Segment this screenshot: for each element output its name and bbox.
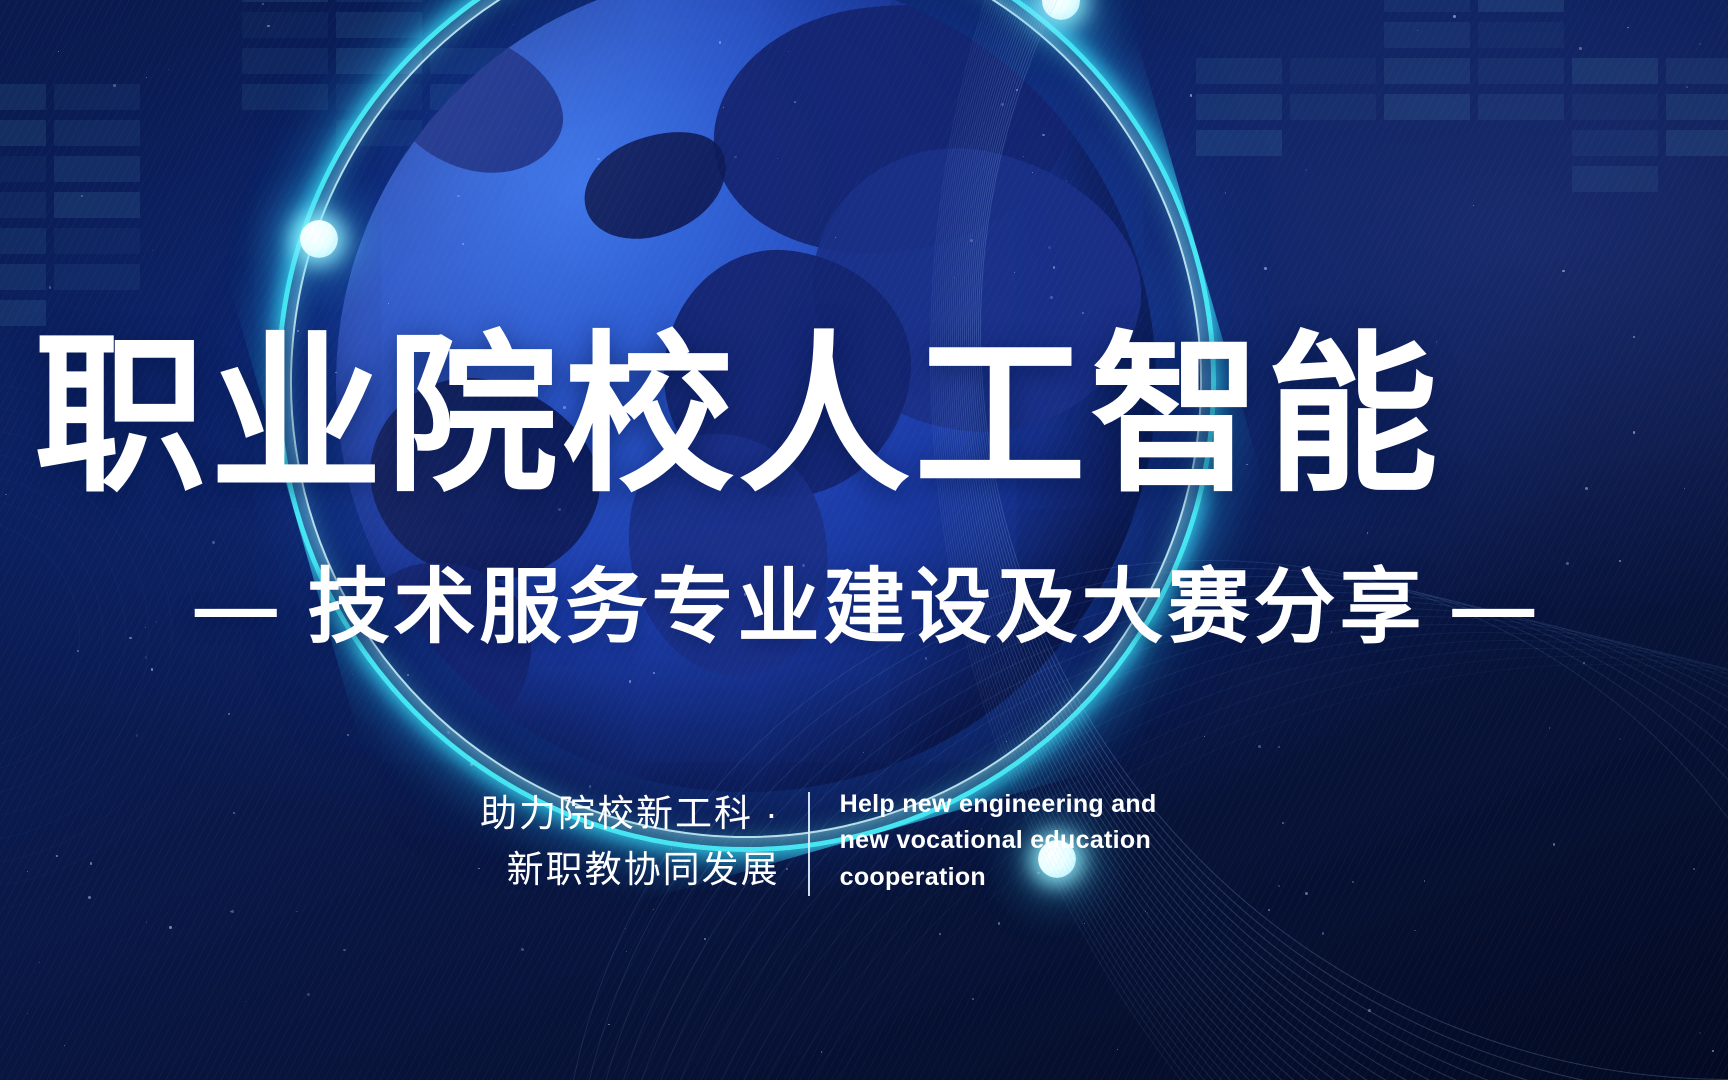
star-dot [1583, 662, 1585, 664]
star-dot [1268, 909, 1270, 911]
star-dot [212, 541, 215, 544]
star-dot [1305, 892, 1308, 895]
data-block [1478, 94, 1564, 120]
data-block [54, 264, 140, 290]
star-dot [626, 951, 627, 952]
poster-canvas: 职业院校人工智能 — 技术服务专业建设及大赛分享 — 助力院校新工科 · 新职教… [0, 0, 1728, 1080]
star-dot [1352, 881, 1354, 883]
star-dot [1117, 1049, 1118, 1050]
star-dot [56, 855, 58, 857]
star-dot [1282, 822, 1284, 824]
star-dot [1712, 1050, 1714, 1052]
star-dot [1553, 843, 1555, 845]
data-block [1478, 22, 1564, 48]
star-dot [1453, 15, 1456, 18]
star-dot [1414, 930, 1415, 931]
star-dot [1619, 560, 1621, 562]
star-dot [1305, 169, 1307, 171]
star-dot [168, 69, 169, 70]
star-dot [653, 909, 654, 910]
star-dot [1258, 745, 1261, 748]
data-block [1666, 94, 1728, 120]
tagline-chinese-line-2: 新职教协同发展 [480, 842, 780, 898]
data-block [1384, 22, 1470, 48]
star-dot [152, 250, 153, 251]
data-block [1384, 58, 1470, 84]
tagline-chinese-line-1: 助力院校新工科 · [480, 786, 780, 842]
star-dot [625, 928, 626, 929]
star-dot [1264, 267, 1267, 270]
data-block [1478, 0, 1564, 12]
tagline-chinese: 助力院校新工科 · 新职教协同发展 [480, 786, 808, 898]
star-dot [972, 998, 974, 1000]
data-block [1290, 58, 1376, 84]
data-block [1666, 130, 1728, 156]
data-block [1666, 58, 1728, 84]
data-block [1572, 58, 1658, 84]
star-dot [88, 896, 91, 899]
orbit-node-left [300, 220, 338, 258]
data-block [54, 120, 140, 146]
star-dot [1424, 880, 1425, 881]
star-dot [230, 911, 231, 912]
star-dot [27, 1013, 28, 1014]
orbit-node-top-right [1042, 0, 1080, 20]
star-dot [1627, 27, 1628, 28]
star-dot [1562, 270, 1564, 272]
star-dot [169, 926, 172, 929]
star-dot [1368, 1009, 1371, 1012]
data-block [1478, 58, 1564, 84]
star-dot [608, 1024, 609, 1025]
star-dot [49, 286, 52, 289]
data-block [1572, 130, 1658, 156]
star-dot [90, 862, 93, 865]
data-block [54, 192, 140, 218]
star-dot [296, 911, 297, 912]
star-dot [27, 871, 28, 872]
data-block [54, 228, 140, 254]
data-block [0, 84, 46, 110]
star-dot [1693, 868, 1695, 870]
star-dot [343, 949, 345, 951]
star-dot [1699, 43, 1701, 45]
star-dot [231, 910, 234, 913]
star-dot [1579, 47, 1581, 49]
star-dot [1278, 746, 1280, 748]
star-dot [1322, 932, 1324, 934]
tagline-block: 助力院校新工科 · 新职教协同发展 Help new engineering a… [480, 786, 1210, 898]
star-dot [1549, 727, 1551, 729]
star-dot [5, 494, 6, 495]
star-dot [1473, 205, 1474, 206]
star-dot [1278, 885, 1280, 887]
star-dot [146, 77, 147, 78]
data-block [1572, 166, 1658, 192]
tagline-english: Help new engineering and new vocational … [810, 786, 1210, 895]
star-dot [1619, 738, 1622, 741]
star-dot [1147, 912, 1149, 914]
data-block [1384, 0, 1470, 12]
data-block [0, 192, 46, 218]
page-title: 职业院校人工智能 [34, 330, 1694, 502]
data-block [0, 228, 46, 254]
star-dot [113, 84, 116, 87]
star-dot [77, 650, 79, 652]
star-dot [245, 1001, 246, 1002]
star-dot [1084, 923, 1085, 924]
data-block [1290, 94, 1376, 120]
data-block [54, 84, 140, 110]
star-dot [58, 51, 59, 52]
star-dot [521, 948, 524, 951]
data-block [0, 264, 46, 290]
star-dot [145, 656, 148, 659]
star-dot [267, 25, 270, 28]
star-dot [1367, 532, 1369, 534]
star-dot [1566, 562, 1569, 565]
star-dot [136, 734, 138, 736]
data-block [0, 120, 46, 146]
star-dot [151, 668, 154, 671]
star-dot [1686, 86, 1688, 88]
star-dot [146, 921, 147, 922]
data-block [0, 156, 46, 182]
data-block [1384, 94, 1470, 120]
star-dot [39, 962, 40, 963]
data-block [1572, 94, 1658, 120]
page-subtitle: — 技术服务专业建设及大赛分享 — [44, 567, 1689, 649]
star-dot [704, 938, 706, 940]
star-dot [228, 713, 231, 716]
star-dot [1699, 1032, 1702, 1035]
star-dot [307, 993, 310, 996]
star-dot [1225, 192, 1226, 193]
data-block [54, 156, 140, 182]
star-dot [939, 933, 941, 935]
star-dot [1145, 911, 1146, 912]
star-dot [64, 1045, 65, 1046]
star-dot [821, 1051, 823, 1053]
star-dot [262, 3, 264, 5]
star-dot [233, 812, 235, 814]
star-dot [81, 195, 83, 197]
star-dot [998, 922, 1001, 925]
star-dot [1417, 30, 1418, 31]
